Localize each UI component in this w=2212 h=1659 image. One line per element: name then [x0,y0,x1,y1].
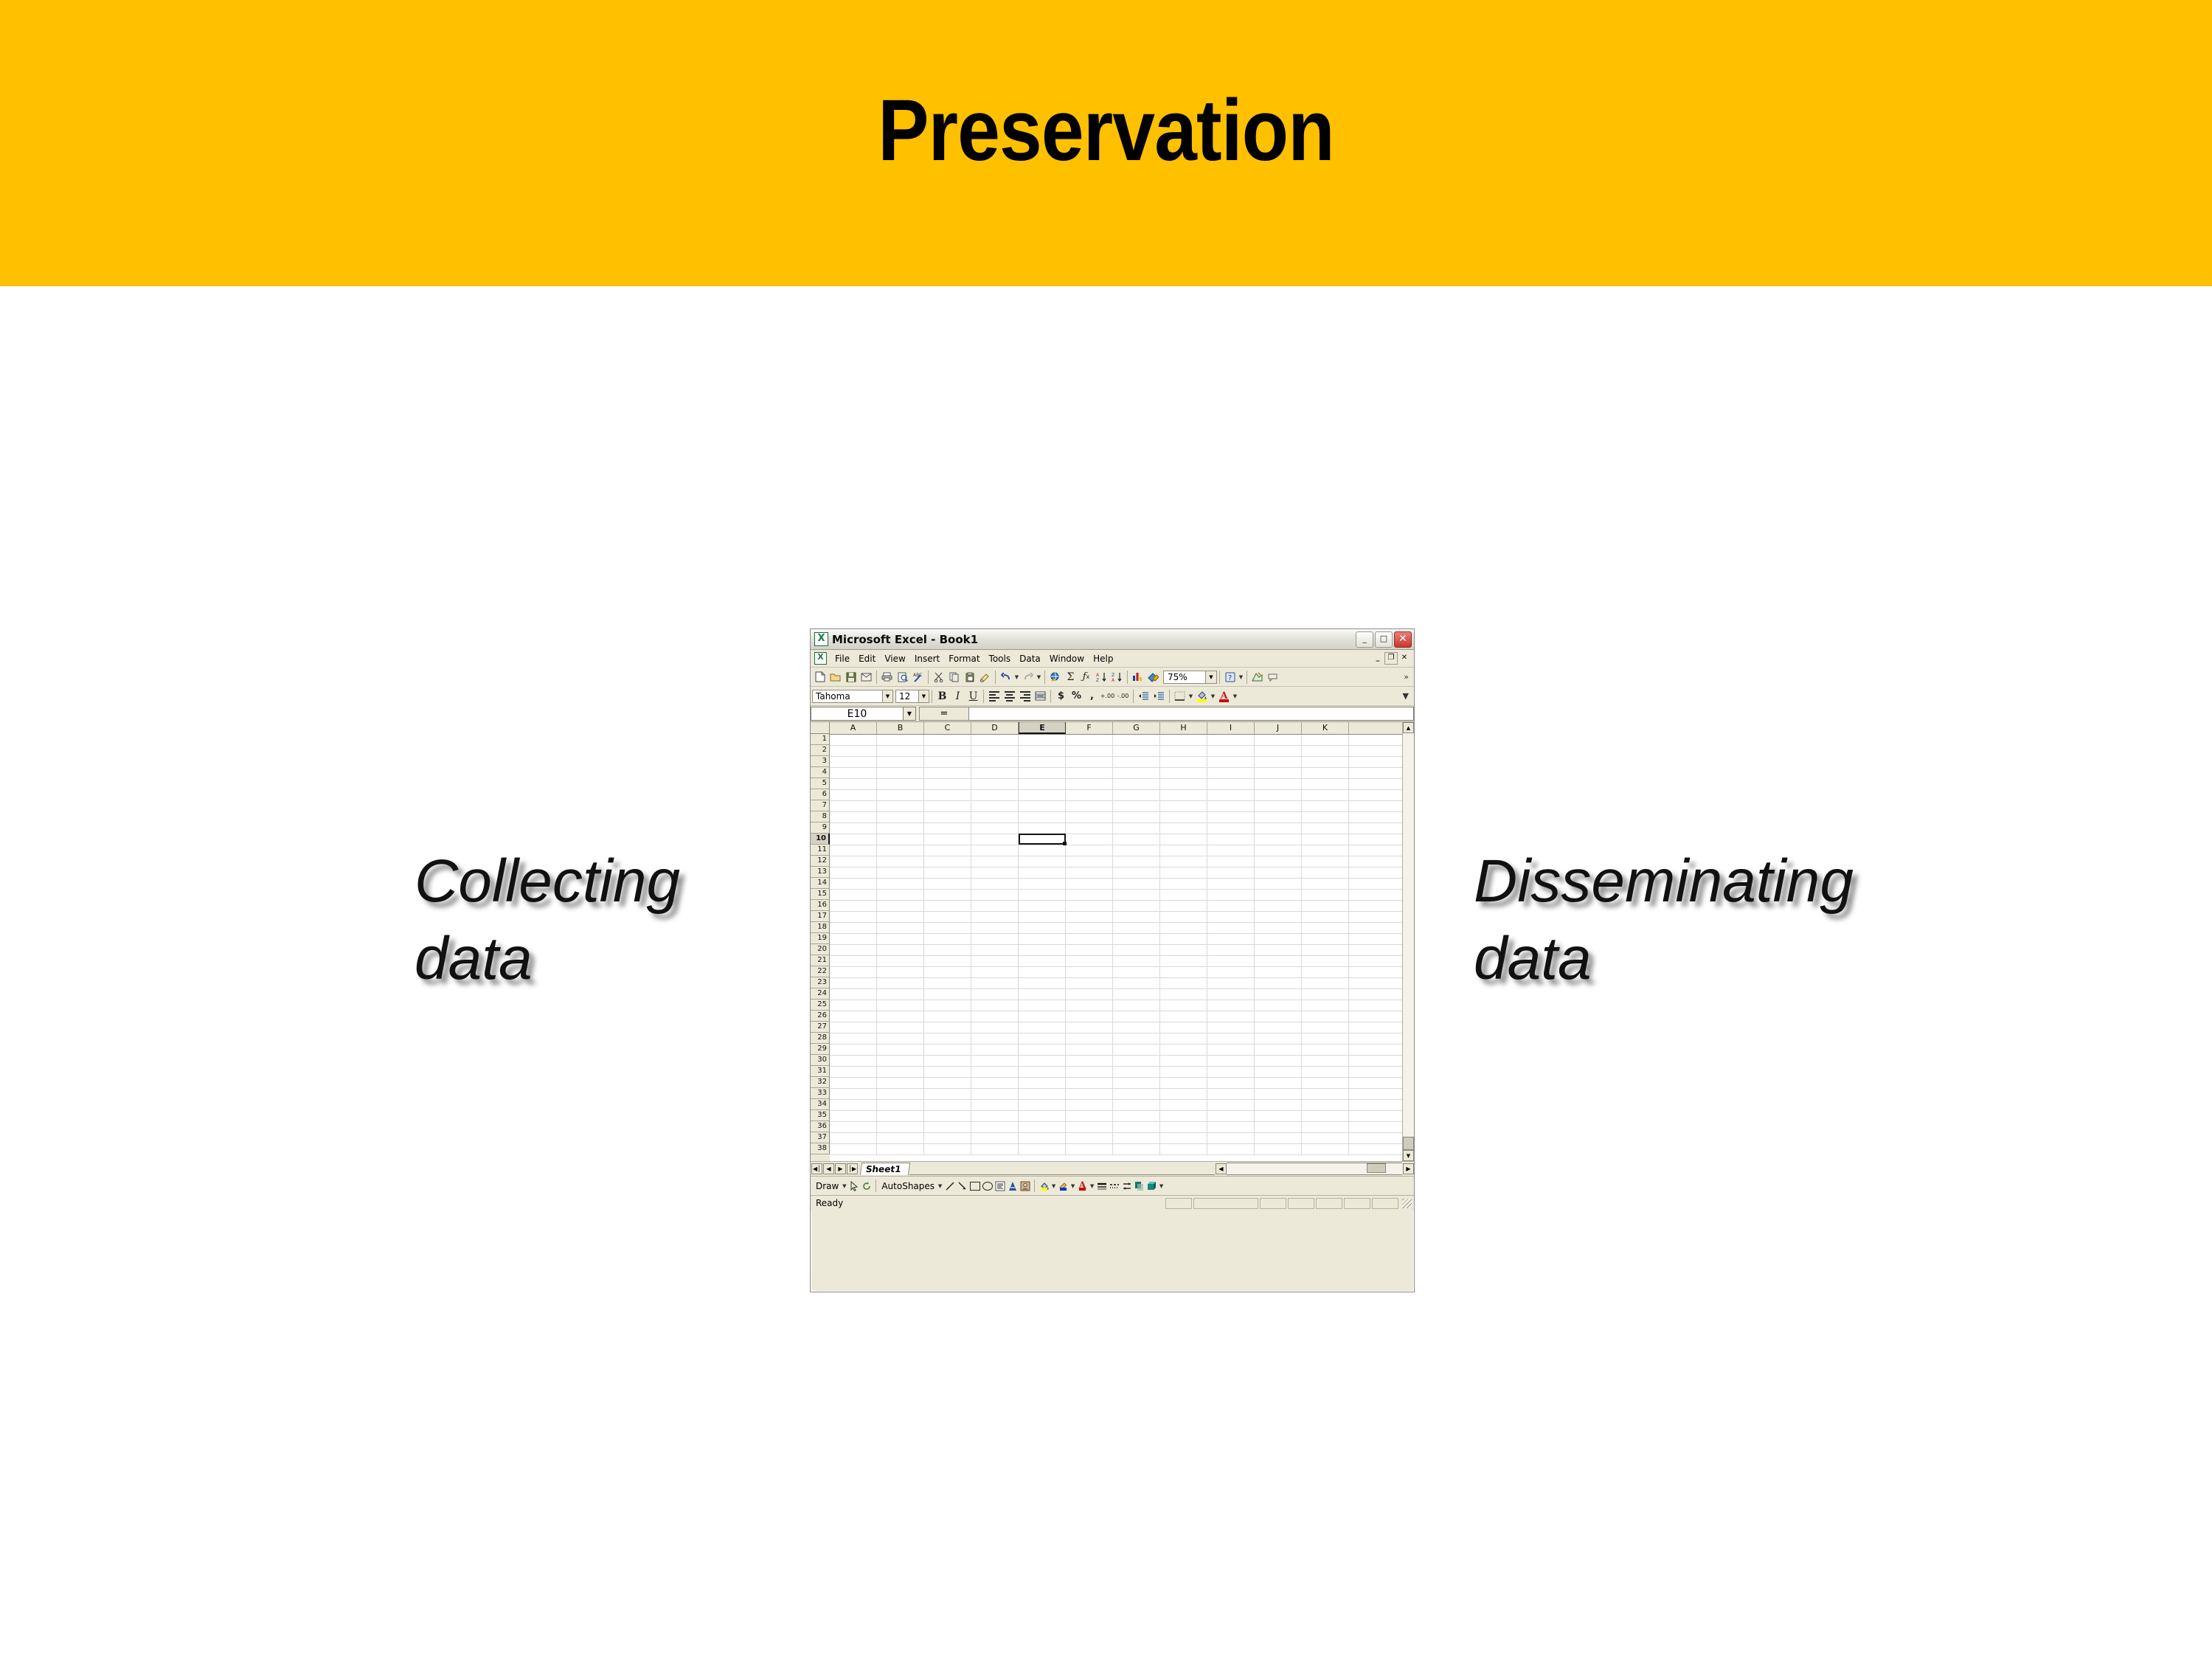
merge-and-center-icon[interactable] [1033,688,1048,704]
cell-I20[interactable] [1207,945,1255,955]
cell-G23[interactable] [1113,978,1160,988]
cell-J13[interactable] [1255,867,1302,878]
cell-K28[interactable] [1302,1033,1349,1044]
cell-A19[interactable] [830,934,877,944]
cell-E34[interactable] [1019,1100,1066,1110]
cell-D29[interactable] [971,1045,1019,1055]
cell-I27[interactable] [1207,1022,1255,1033]
cell-F9[interactable] [1066,823,1113,834]
cell-K7[interactable] [1302,801,1349,811]
cell-G32[interactable] [1113,1078,1160,1088]
cell-I14[interactable] [1207,879,1255,889]
row-header-38[interactable]: 38 [811,1143,830,1154]
cell-E22[interactable] [1019,967,1066,977]
cell-B4[interactable] [877,768,924,778]
cell-E2[interactable] [1019,746,1066,756]
cell-H17[interactable] [1160,912,1207,922]
cell-K20[interactable] [1302,945,1349,955]
cell-E3[interactable] [1019,757,1066,767]
cell-J1[interactable] [1255,735,1302,745]
row-header-30[interactable]: 30 [811,1055,830,1066]
align-center-icon[interactable] [1002,688,1017,704]
grid-row[interactable] [830,912,1402,923]
cell-K10[interactable] [1302,834,1349,845]
row-header-16[interactable]: 16 [811,900,830,911]
vertical-scroll-thumb[interactable] [1403,1137,1414,1150]
cell-E12[interactable] [1019,856,1066,867]
cell-G30[interactable] [1113,1056,1160,1066]
cell-K14[interactable] [1302,879,1349,889]
cell-E26[interactable] [1019,1011,1066,1022]
currency-style-button[interactable]: $ [1053,688,1069,704]
cell-H32[interactable] [1160,1078,1207,1088]
cell-K27[interactable] [1302,1022,1349,1033]
row-header-25[interactable]: 25 [811,1000,830,1011]
menu-item-file[interactable]: File [831,652,854,665]
spelling-check-icon[interactable]: ABC [910,669,926,685]
cell-A2[interactable] [830,746,877,756]
cell-H8[interactable] [1160,812,1207,822]
cell-E7[interactable] [1019,801,1066,811]
cell-C12[interactable] [924,856,971,867]
cell-E31[interactable] [1019,1067,1066,1077]
cell-A35[interactable] [830,1111,877,1121]
cell-F6[interactable] [1066,790,1113,800]
cell-J35[interactable] [1255,1111,1302,1121]
row-header-29[interactable]: 29 [811,1044,830,1055]
cell-B8[interactable] [877,812,924,822]
cell-I5[interactable] [1207,779,1255,789]
menu-item-edit[interactable]: Edit [854,652,880,665]
minimize-button[interactable]: _ [1356,631,1373,648]
cell-A21[interactable] [830,956,877,966]
line-style-icon[interactable] [1095,1180,1108,1192]
close-button[interactable]: ✕ [1394,631,1412,648]
last-sheet-button[interactable]: │▶ [847,1163,858,1174]
grid-row[interactable] [830,1011,1402,1022]
cell-K31[interactable] [1302,1067,1349,1077]
menu-item-tools[interactable]: Tools [985,652,1016,665]
cell-E30[interactable] [1019,1056,1066,1066]
cell-H7[interactable] [1160,801,1207,811]
cell-G14[interactable] [1113,879,1160,889]
horizontal-scrollbar[interactable]: ◀ ▶ [1215,1163,1414,1175]
cell-G19[interactable] [1113,934,1160,944]
row-header-35[interactable]: 35 [811,1110,830,1121]
cell-C5[interactable] [924,779,971,789]
row-header-28[interactable]: 28 [811,1033,830,1044]
cell-G29[interactable] [1113,1045,1160,1055]
3d-dropdown-arrow-icon[interactable]: ▼ [1158,1183,1165,1189]
cell-F29[interactable] [1066,1045,1113,1055]
cell-A25[interactable] [830,1000,877,1011]
cell-A1[interactable] [830,735,877,745]
cell-J16[interactable] [1255,901,1302,911]
cell-D16[interactable] [971,901,1019,911]
cell-G6[interactable] [1113,790,1160,800]
font-name-input[interactable]: Tahoma [812,690,883,703]
cell-F22[interactable] [1066,967,1113,977]
cell-F3[interactable] [1066,757,1113,767]
cell-H15[interactable] [1160,890,1207,900]
cell-A38[interactable] [830,1144,877,1154]
cell-H27[interactable] [1160,1022,1207,1033]
cell-C38[interactable] [924,1144,971,1154]
cell-K21[interactable] [1302,956,1349,966]
horizontal-scroll-thumb[interactable] [1367,1163,1386,1173]
cell-F19[interactable] [1066,934,1113,944]
cell-H18[interactable] [1160,923,1207,933]
grid-row[interactable] [830,1144,1402,1155]
cell-F17[interactable] [1066,912,1113,922]
grid-row[interactable] [830,779,1402,790]
cell-I26[interactable] [1207,1011,1255,1022]
cell-C11[interactable] [924,845,971,856]
cell-D5[interactable] [971,779,1019,789]
arrow-icon[interactable] [956,1180,968,1192]
cell-C32[interactable] [924,1078,971,1088]
cell-D7[interactable] [971,801,1019,811]
cell-H21[interactable] [1160,956,1207,966]
cell-J18[interactable] [1255,923,1302,933]
menu-item-help[interactable]: Help [1089,652,1117,665]
cell-A13[interactable] [830,867,877,878]
cell-E13[interactable] [1019,867,1066,878]
cell-B17[interactable] [877,912,924,922]
cell-G4[interactable] [1113,768,1160,778]
cell-J34[interactable] [1255,1100,1302,1110]
undo-icon[interactable] [998,669,1013,685]
grid-row[interactable] [830,746,1402,757]
paste-clipboard-icon[interactable] [962,669,977,685]
zoom-value[interactable]: 75% [1163,671,1206,684]
cell-B3[interactable] [877,757,924,767]
cell-C30[interactable] [924,1056,971,1066]
cell-F33[interactable] [1066,1089,1113,1099]
cell-H23[interactable] [1160,978,1207,988]
cell-K19[interactable] [1302,934,1349,944]
row-header-18[interactable]: 18 [811,922,830,933]
cell-C15[interactable] [924,890,971,900]
cell-H33[interactable] [1160,1089,1207,1099]
cell-E17[interactable] [1019,912,1066,922]
cell-F35[interactable] [1066,1111,1113,1121]
cell-K23[interactable] [1302,978,1349,988]
cell-K38[interactable] [1302,1144,1349,1154]
email-icon[interactable] [859,669,874,685]
cell-F16[interactable] [1066,901,1113,911]
cell-E25[interactable] [1019,1000,1066,1011]
cell-I22[interactable] [1207,967,1255,977]
cell-E33[interactable] [1019,1089,1066,1099]
cell-D22[interactable] [971,967,1019,977]
cell-G11[interactable] [1113,845,1160,856]
cell-B16[interactable] [877,901,924,911]
cell-K16[interactable] [1302,901,1349,911]
cell-F32[interactable] [1066,1078,1113,1088]
percent-style-button[interactable]: % [1069,688,1084,704]
line-color-icon[interactable] [1057,1180,1069,1192]
font-color-icon[interactable]: A [1076,1180,1089,1192]
cell-I4[interactable] [1207,768,1255,778]
cell-D37[interactable] [971,1133,1019,1143]
cell-C4[interactable] [924,768,971,778]
cell-C33[interactable] [924,1089,971,1099]
cell-B29[interactable] [877,1045,924,1055]
drawing-icon[interactable] [1145,669,1161,685]
arrow-style-icon[interactable] [1120,1180,1133,1192]
cell-C36[interactable] [924,1122,971,1132]
cell-B11[interactable] [877,845,924,856]
cell-K32[interactable] [1302,1078,1349,1088]
grid-row[interactable] [830,1033,1402,1045]
row-header-27[interactable]: 27 [811,1022,830,1033]
grid-row[interactable] [830,1111,1402,1122]
cell-E37[interactable] [1019,1133,1066,1143]
cell-A32[interactable] [830,1078,877,1088]
cell-B19[interactable] [877,934,924,944]
row-header-2[interactable]: 2 [811,745,830,756]
cell-J9[interactable] [1255,823,1302,834]
cell-F21[interactable] [1066,956,1113,966]
horizontal-scroll-track[interactable] [1227,1163,1402,1175]
document-close-button[interactable]: ✕ [1398,653,1410,664]
row-header-3[interactable]: 3 [811,756,830,767]
cell-E24[interactable] [1019,989,1066,1000]
autosum-sigma-icon[interactable]: Σ [1063,669,1078,685]
cell-G1[interactable] [1113,735,1160,745]
grid-row[interactable] [830,790,1402,801]
cell-G28[interactable] [1113,1033,1160,1044]
cell-E23[interactable] [1019,978,1066,988]
cell-C21[interactable] [924,956,971,966]
cell-J8[interactable] [1255,812,1302,822]
grid-row[interactable] [830,1089,1402,1100]
cell-J22[interactable] [1255,967,1302,977]
grid-row[interactable] [830,1000,1402,1011]
menu-item-data[interactable]: Data [1015,652,1045,665]
cell-J5[interactable] [1255,779,1302,789]
cell-D17[interactable] [971,912,1019,922]
cell-I21[interactable] [1207,956,1255,966]
row-header-21[interactable]: 21 [811,955,830,966]
open-folder-icon[interactable] [828,669,843,685]
paste-function-icon[interactable]: ƒx [1078,669,1094,685]
row-header-13[interactable]: 13 [811,867,830,878]
cell-K33[interactable] [1302,1089,1349,1099]
grid-row[interactable] [830,978,1402,989]
workbook-icon[interactable] [814,652,827,665]
row-header-10[interactable]: 10 [811,834,830,845]
cell-G10[interactable] [1113,834,1160,845]
cell-G35[interactable] [1113,1111,1160,1121]
cell-D38[interactable] [971,1144,1019,1154]
cell-C16[interactable] [924,901,971,911]
cell-B28[interactable] [877,1033,924,1044]
cell-E10[interactable] [1019,834,1066,845]
decrease-decimal-icon[interactable]: -.00 [1115,688,1131,704]
cell-F31[interactable] [1066,1067,1113,1077]
cell-K22[interactable] [1302,967,1349,977]
cell-A36[interactable] [830,1122,877,1132]
help-dropdown-arrow-icon[interactable]: ▼ [1238,674,1244,680]
grid-row[interactable] [830,890,1402,901]
cell-H29[interactable] [1160,1045,1207,1055]
cell-E27[interactable] [1019,1022,1066,1033]
row-header-4[interactable]: 4 [811,767,830,778]
sort-descending-icon[interactable]: ZA [1109,669,1125,685]
cell-E8[interactable] [1019,812,1066,822]
cell-K8[interactable] [1302,812,1349,822]
cell-J29[interactable] [1255,1045,1302,1055]
cell-G31[interactable] [1113,1067,1160,1077]
cell-A5[interactable] [830,779,877,789]
cell-K26[interactable] [1302,1011,1349,1022]
cell-H31[interactable] [1160,1067,1207,1077]
column-header-g[interactable]: G [1113,722,1160,734]
row-header-33[interactable]: 33 [811,1088,830,1099]
cell-B22[interactable] [877,967,924,977]
cell-K3[interactable] [1302,757,1349,767]
cell-B38[interactable] [877,1144,924,1154]
cell-C14[interactable] [924,879,971,889]
free-rotate-icon[interactable] [860,1180,873,1192]
grid-row[interactable] [830,956,1402,967]
font-name-dropdown-arrow-icon[interactable]: ▼ [883,690,893,703]
cell-K6[interactable] [1302,790,1349,800]
cell-J20[interactable] [1255,945,1302,955]
row-header-7[interactable]: 7 [811,800,830,811]
menu-item-window[interactable]: Window [1045,652,1089,665]
increase-indent-icon[interactable] [1151,688,1167,704]
cell-B25[interactable] [877,1000,924,1011]
cell-A12[interactable] [830,856,877,867]
cell-F24[interactable] [1066,989,1113,1000]
cell-E1[interactable] [1019,735,1066,745]
cell-K36[interactable] [1302,1122,1349,1132]
cell-E38[interactable] [1019,1144,1066,1154]
grid-row[interactable] [830,867,1402,879]
cell-B32[interactable] [877,1078,924,1088]
menu-item-view[interactable]: View [880,652,909,665]
cell-D34[interactable] [971,1100,1019,1110]
cell-J3[interactable] [1255,757,1302,767]
cell-F25[interactable] [1066,1000,1113,1011]
cell-G9[interactable] [1113,823,1160,834]
cell-I38[interactable] [1207,1144,1255,1154]
cell-H25[interactable] [1160,1000,1207,1011]
italic-button[interactable]: I [950,688,965,704]
row-header-6[interactable]: 6 [811,789,830,800]
cell-F28[interactable] [1066,1033,1113,1044]
cell-D8[interactable] [971,812,1019,822]
next-sheet-button[interactable]: ▶ [835,1163,846,1174]
cell-C28[interactable] [924,1033,971,1044]
cell-F5[interactable] [1066,779,1113,789]
cell-A7[interactable] [830,801,877,811]
cell-F13[interactable] [1066,867,1113,878]
cell-C7[interactable] [924,801,971,811]
cell-E21[interactable] [1019,956,1066,966]
cell-D10[interactable] [971,834,1019,845]
row-header-22[interactable]: 22 [811,966,830,977]
cell-G20[interactable] [1113,945,1160,955]
cell-C25[interactable] [924,1000,971,1011]
cell-B33[interactable] [877,1089,924,1099]
cell-A27[interactable] [830,1022,877,1033]
cell-I1[interactable] [1207,735,1255,745]
grid-row[interactable] [830,923,1402,934]
cell-I10[interactable] [1207,834,1255,845]
cell-I15[interactable] [1207,890,1255,900]
cell-J4[interactable] [1255,768,1302,778]
name-box[interactable]: E10 [811,707,904,721]
cell-H9[interactable] [1160,823,1207,834]
cell-H28[interactable] [1160,1033,1207,1044]
cell-E15[interactable] [1019,890,1066,900]
grid-row[interactable] [830,1045,1402,1056]
cell-E18[interactable] [1019,923,1066,933]
cell-J24[interactable] [1255,989,1302,1000]
cell-C13[interactable] [924,867,971,878]
cell-I34[interactable] [1207,1100,1255,1110]
cell-G22[interactable] [1113,967,1160,977]
grid-row[interactable] [830,1122,1402,1133]
row-header-11[interactable]: 11 [811,845,830,856]
cell-F14[interactable] [1066,879,1113,889]
column-header-f[interactable]: F [1066,722,1113,734]
cell-H38[interactable] [1160,1144,1207,1154]
cell-C35[interactable] [924,1111,971,1121]
column-header-d[interactable]: D [971,722,1019,734]
cell-I28[interactable] [1207,1033,1255,1044]
cell-I12[interactable] [1207,856,1255,867]
cell-G37[interactable] [1113,1133,1160,1143]
cell-I8[interactable] [1207,812,1255,822]
cell-A37[interactable] [830,1133,877,1143]
cell-D21[interactable] [971,956,1019,966]
print-preview-icon[interactable] [895,669,910,685]
cell-H30[interactable] [1160,1056,1207,1066]
cell-A6[interactable] [830,790,877,800]
grid-row[interactable] [830,757,1402,768]
cell-J32[interactable] [1255,1078,1302,1088]
cell-D11[interactable] [971,845,1019,856]
shadow-style-icon[interactable] [1133,1180,1145,1192]
insert-hyperlink-icon[interactable] [1047,669,1063,685]
column-header-j[interactable]: J [1255,722,1302,734]
cell-B34[interactable] [877,1100,924,1110]
cell-K18[interactable] [1302,923,1349,933]
grid-row[interactable] [830,768,1402,779]
cell-G21[interactable] [1113,956,1160,966]
row-header-23[interactable]: 23 [811,977,830,988]
cell-A33[interactable] [830,1089,877,1099]
cell-F10[interactable] [1066,834,1113,845]
cell-E5[interactable] [1019,779,1066,789]
3d-style-icon[interactable] [1145,1180,1158,1192]
cell-A17[interactable] [830,912,877,922]
row-header-26[interactable]: 26 [811,1011,830,1022]
cell-H36[interactable] [1160,1122,1207,1132]
row-header-12[interactable]: 12 [811,856,830,867]
cell-A29[interactable] [830,1045,877,1055]
grid-row[interactable] [830,812,1402,823]
cell-F15[interactable] [1066,890,1113,900]
cell-F1[interactable] [1066,735,1113,745]
cell-C26[interactable] [924,1011,971,1022]
grid-row[interactable] [830,845,1402,856]
